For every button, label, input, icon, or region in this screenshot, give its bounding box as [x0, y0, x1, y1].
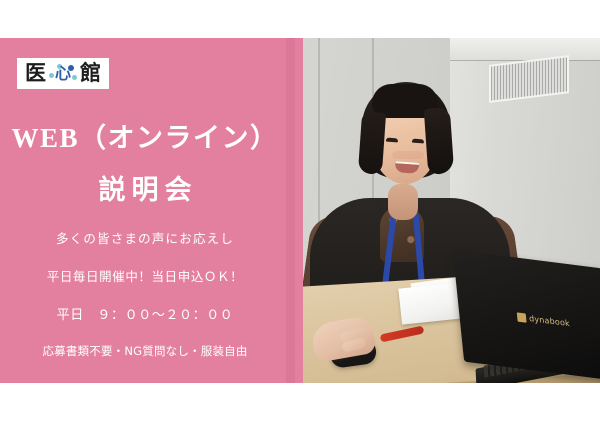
pink-info-panel: 医 心 館 WEB（オンライン） 説明会 多くの皆さまの声にお応えし 平日毎日開…	[0, 38, 303, 383]
brand-logo: 医 心 館	[17, 58, 109, 89]
person-hair-side-right	[424, 107, 455, 175]
logo-dot-icon	[72, 75, 77, 80]
person-neck	[388, 184, 418, 220]
screenshot-canvas: dynabook 医 心 館 W	[0, 0, 600, 426]
brand-logo-mark-icon: 心	[48, 61, 78, 85]
ceiling-soffit	[450, 38, 600, 60]
vent-louvers	[491, 57, 567, 100]
brand-logo-kanji-right: 館	[80, 63, 101, 84]
panel-accent-stripe	[286, 38, 295, 383]
brand-logo-kanji-left: 医	[25, 63, 46, 84]
brand-logo-shin-char: 心	[55, 66, 71, 82]
sub-line-conditions: 応募書類不要・NG質問なし・服装自由	[0, 343, 290, 359]
office-photo: dynabook	[300, 38, 600, 383]
sub-line-hours: 平日 ９：００〜２０：００	[0, 304, 290, 323]
seminar-banner: dynabook 医 心 館 W	[0, 38, 600, 383]
sub-line-response: 多くの皆さまの声にお応えし	[0, 228, 290, 247]
person-hair-side-left	[358, 111, 386, 175]
person-eye-right	[412, 139, 424, 144]
headline-primary: WEB（オンライン）	[0, 116, 290, 155]
dynabook-square-icon	[517, 312, 527, 322]
sub-line-schedule: 平日毎日開催中！当日申込ＯＫ！	[0, 266, 290, 285]
person-eye-left	[386, 138, 398, 143]
logo-dot-icon	[49, 73, 54, 78]
person-cheek	[392, 151, 424, 159]
headline-secondary: 説明会	[0, 168, 290, 207]
